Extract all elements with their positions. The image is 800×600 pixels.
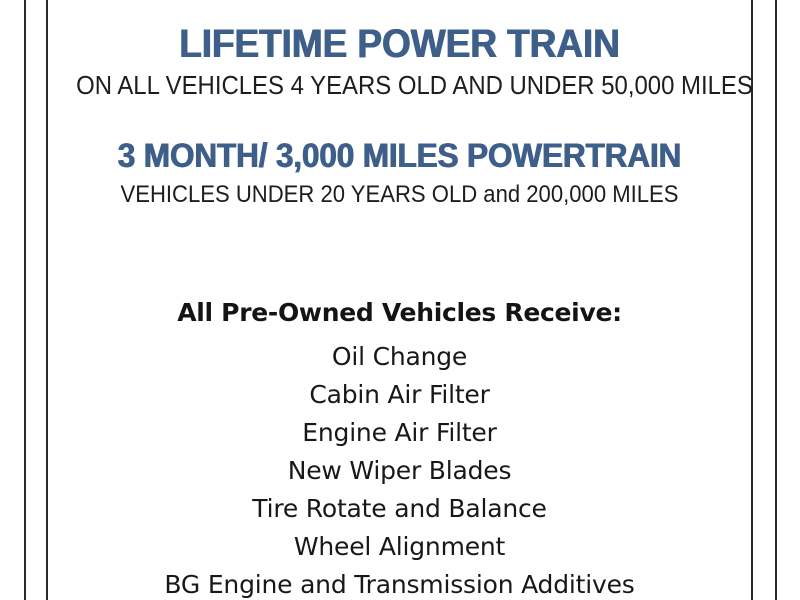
warranty-title-3month: 3 MONTH/ 3,000 MILES POWERTRAIN [73,139,727,173]
service-item: Wheel Alignment [48,528,751,566]
services-heading: All Pre-Owned Vehicles Receive: [48,300,751,325]
frame-rule-left-outer [24,0,26,600]
frame-rule-right-outer [775,0,777,600]
service-item: Cabin Air Filter [48,376,751,414]
warranty-offer-3month: 3 MONTH/ 3,000 MILES POWERTRAIN VEHICLES… [48,139,751,207]
warranty-flyer: LIFETIME POWER TRAIN ON ALL VEHICLES 4 Y… [0,0,800,600]
warranty-offer-lifetime: LIFETIME POWER TRAIN ON ALL VEHICLES 4 Y… [48,24,751,99]
warranty-subtitle-3month: VEHICLES UNDER 20 YEARS OLD and 200,000 … [76,182,723,207]
service-item: Tire Rotate and Balance [48,490,751,528]
service-item: New Wiper Blades [48,452,751,490]
warranty-title-lifetime: LIFETIME POWER TRAIN [73,24,727,64]
service-item: Engine Air Filter [48,414,751,452]
service-item: BG Engine and Transmission Additives [48,566,751,600]
flyer-content: LIFETIME POWER TRAIN ON ALL VEHICLES 4 Y… [48,0,751,600]
services-section: All Pre-Owned Vehicles Receive: Oil Chan… [48,300,751,600]
services-list: Oil ChangeCabin Air FilterEngine Air Fil… [48,338,751,600]
warranty-subtitle-lifetime: ON ALL VEHICLES 4 YEARS OLD AND UNDER 50… [76,72,723,99]
service-item: Oil Change [48,338,751,376]
